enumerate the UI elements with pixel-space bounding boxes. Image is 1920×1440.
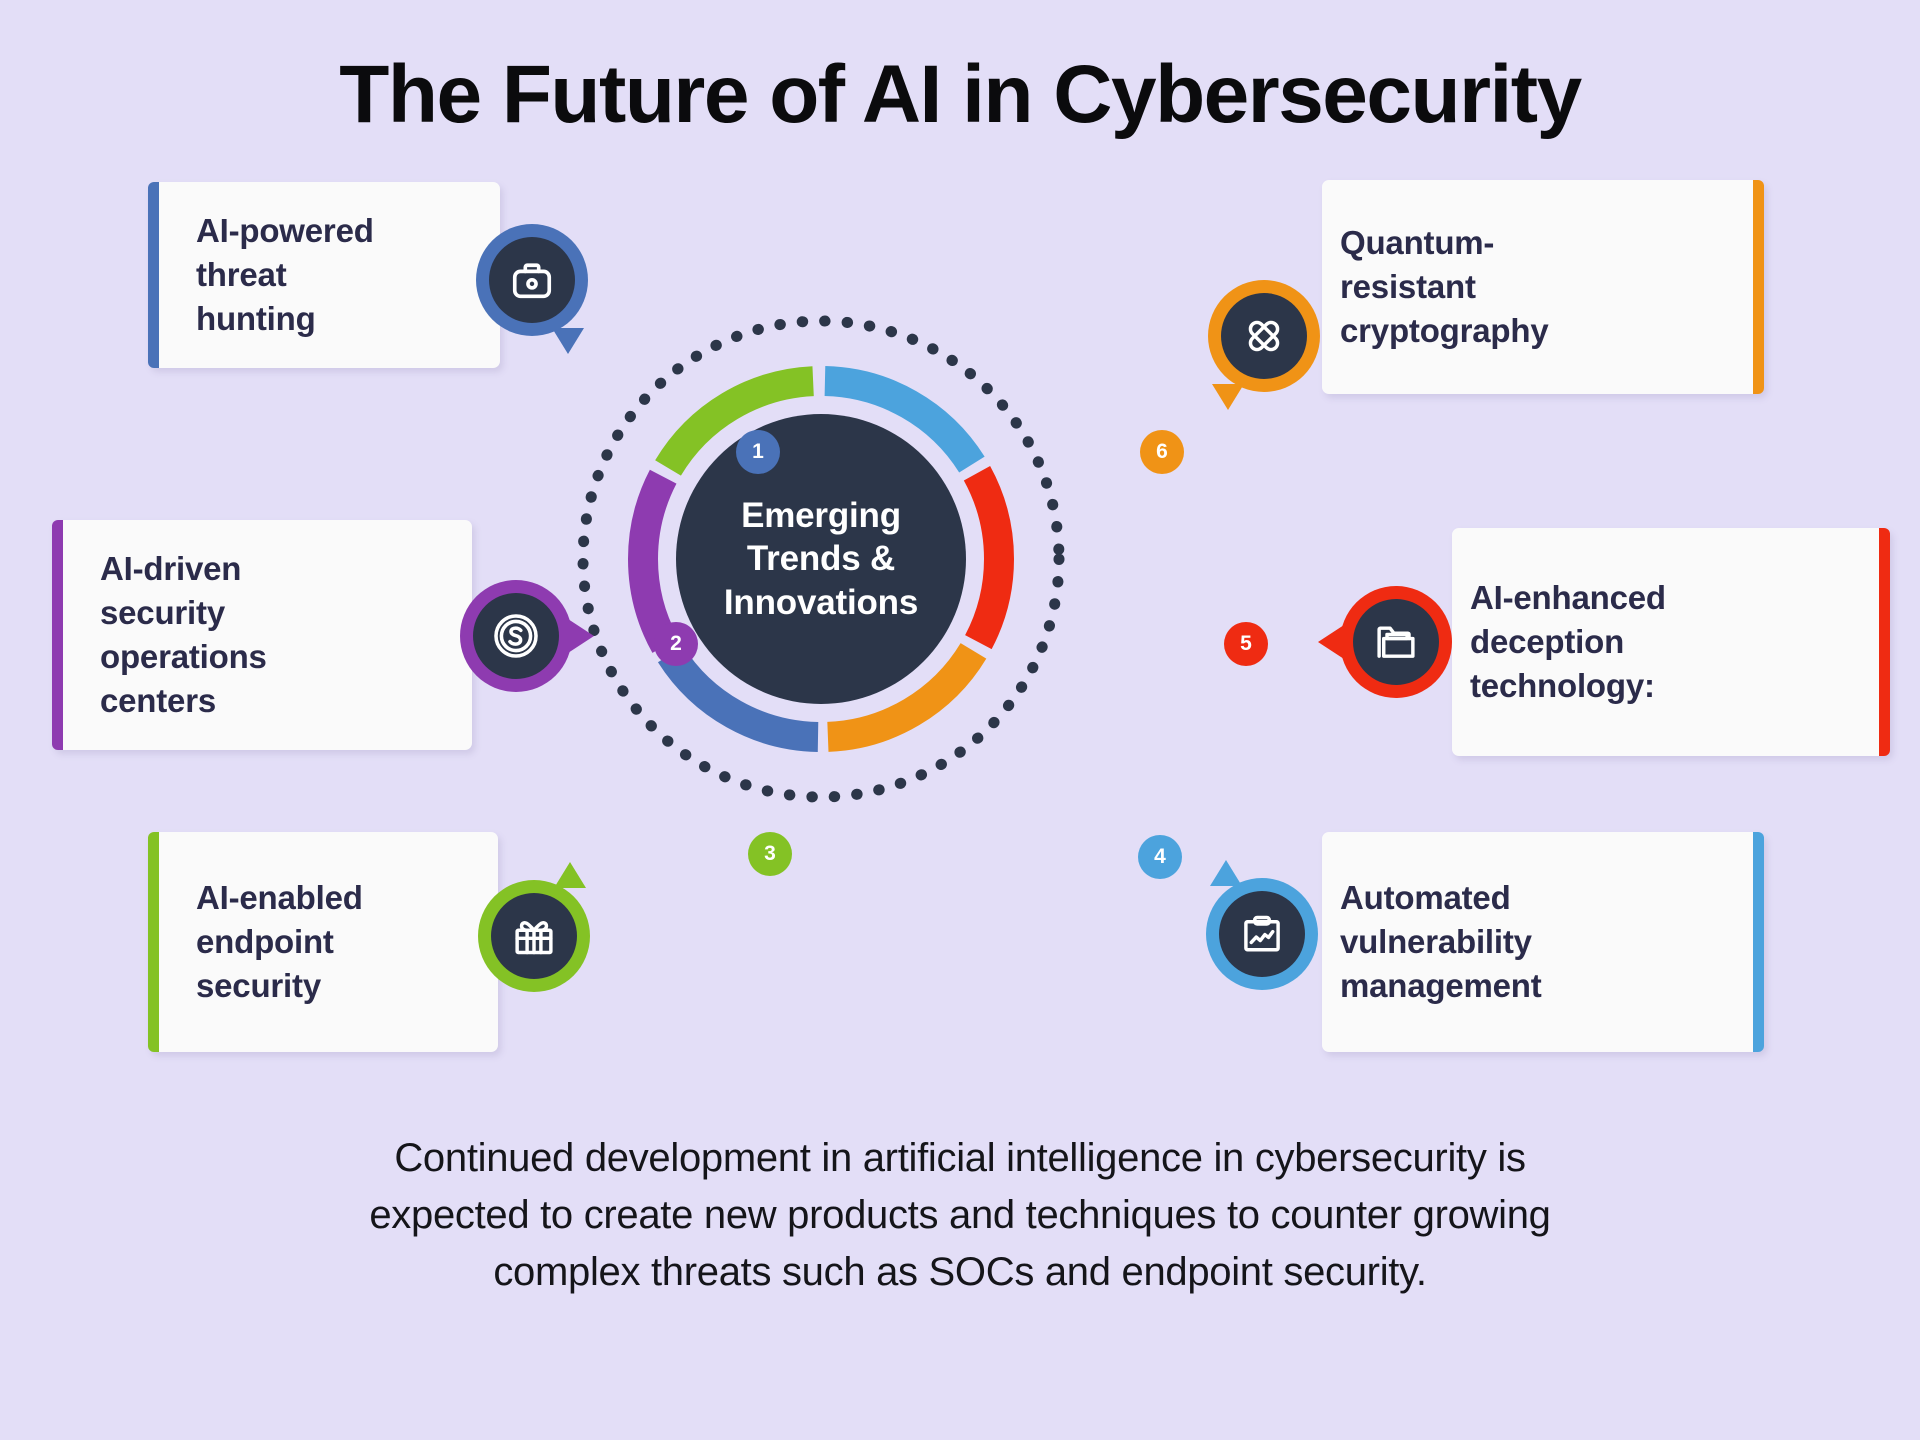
bubble-tail-5	[1318, 625, 1344, 659]
donut-hub	[676, 414, 966, 704]
footer-caption: Continued development in artificial inte…	[95, 1130, 1825, 1300]
gift-box-icon	[491, 893, 577, 979]
icon-bubble-5[interactable]	[1340, 586, 1452, 698]
card-label-3: AI-enabled endpoint security	[148, 876, 379, 1008]
card-accent-bar-2	[52, 520, 63, 750]
card-accent-bar-6	[1753, 180, 1764, 394]
card-label-5: AI-enhanced deception technology:	[1452, 576, 1890, 708]
card-accent-bar-4	[1753, 832, 1764, 1052]
bubble-tail-4	[1210, 860, 1242, 886]
circle-s-icon	[473, 593, 559, 679]
crossed-bandage-icon	[1221, 293, 1307, 379]
page-title: The Future of AI in Cybersecurity	[0, 48, 1920, 142]
bubble-tail-6	[1212, 384, 1244, 410]
number-badge-2[interactable]: 2	[654, 622, 698, 666]
card-item-3[interactable]: AI-enabled endpoint security	[148, 832, 498, 1052]
card-item-2[interactable]: AI-driven security operations centers	[52, 520, 472, 750]
card-label-1: AI-powered threat hunting	[148, 209, 390, 341]
card-accent-bar-3	[148, 832, 159, 1052]
briefcase-lock-icon	[489, 237, 575, 323]
number-badge-4[interactable]: 4	[1138, 835, 1182, 879]
card-item-5[interactable]: AI-enhanced deception technology:	[1452, 528, 1890, 756]
bubble-tail-2	[568, 619, 594, 653]
donut-chart	[612, 350, 1030, 768]
icon-bubble-1[interactable]	[476, 224, 588, 336]
number-badge-6[interactable]: 6	[1140, 430, 1184, 474]
icon-bubble-4[interactable]	[1206, 878, 1318, 990]
card-label-6: Quantum- resistant cryptography	[1322, 221, 1764, 353]
number-badge-5[interactable]: 5	[1224, 622, 1268, 666]
infographic-root: The Future of AI in Cybersecurity Emergi…	[0, 0, 1920, 1440]
icon-bubble-2[interactable]	[460, 580, 572, 692]
card-item-6[interactable]: Quantum- resistant cryptography	[1322, 180, 1764, 394]
folder-icon	[1353, 599, 1439, 685]
icon-bubble-3[interactable]	[478, 880, 590, 992]
number-badge-3[interactable]: 3	[748, 832, 792, 876]
card-item-1[interactable]: AI-powered threat hunting	[148, 182, 500, 368]
card-accent-bar-5	[1879, 528, 1890, 756]
card-accent-bar-1	[148, 182, 159, 368]
number-badge-1[interactable]: 1	[736, 430, 780, 474]
icon-bubble-6[interactable]	[1208, 280, 1320, 392]
bubble-tail-3	[554, 862, 586, 888]
bubble-tail-1	[552, 328, 584, 354]
card-label-4: Automated vulnerability management	[1322, 876, 1764, 1008]
clipboard-chart-icon	[1219, 891, 1305, 977]
card-label-2: AI-driven security operations centers	[52, 547, 283, 723]
card-item-4[interactable]: Automated vulnerability management	[1322, 832, 1764, 1052]
